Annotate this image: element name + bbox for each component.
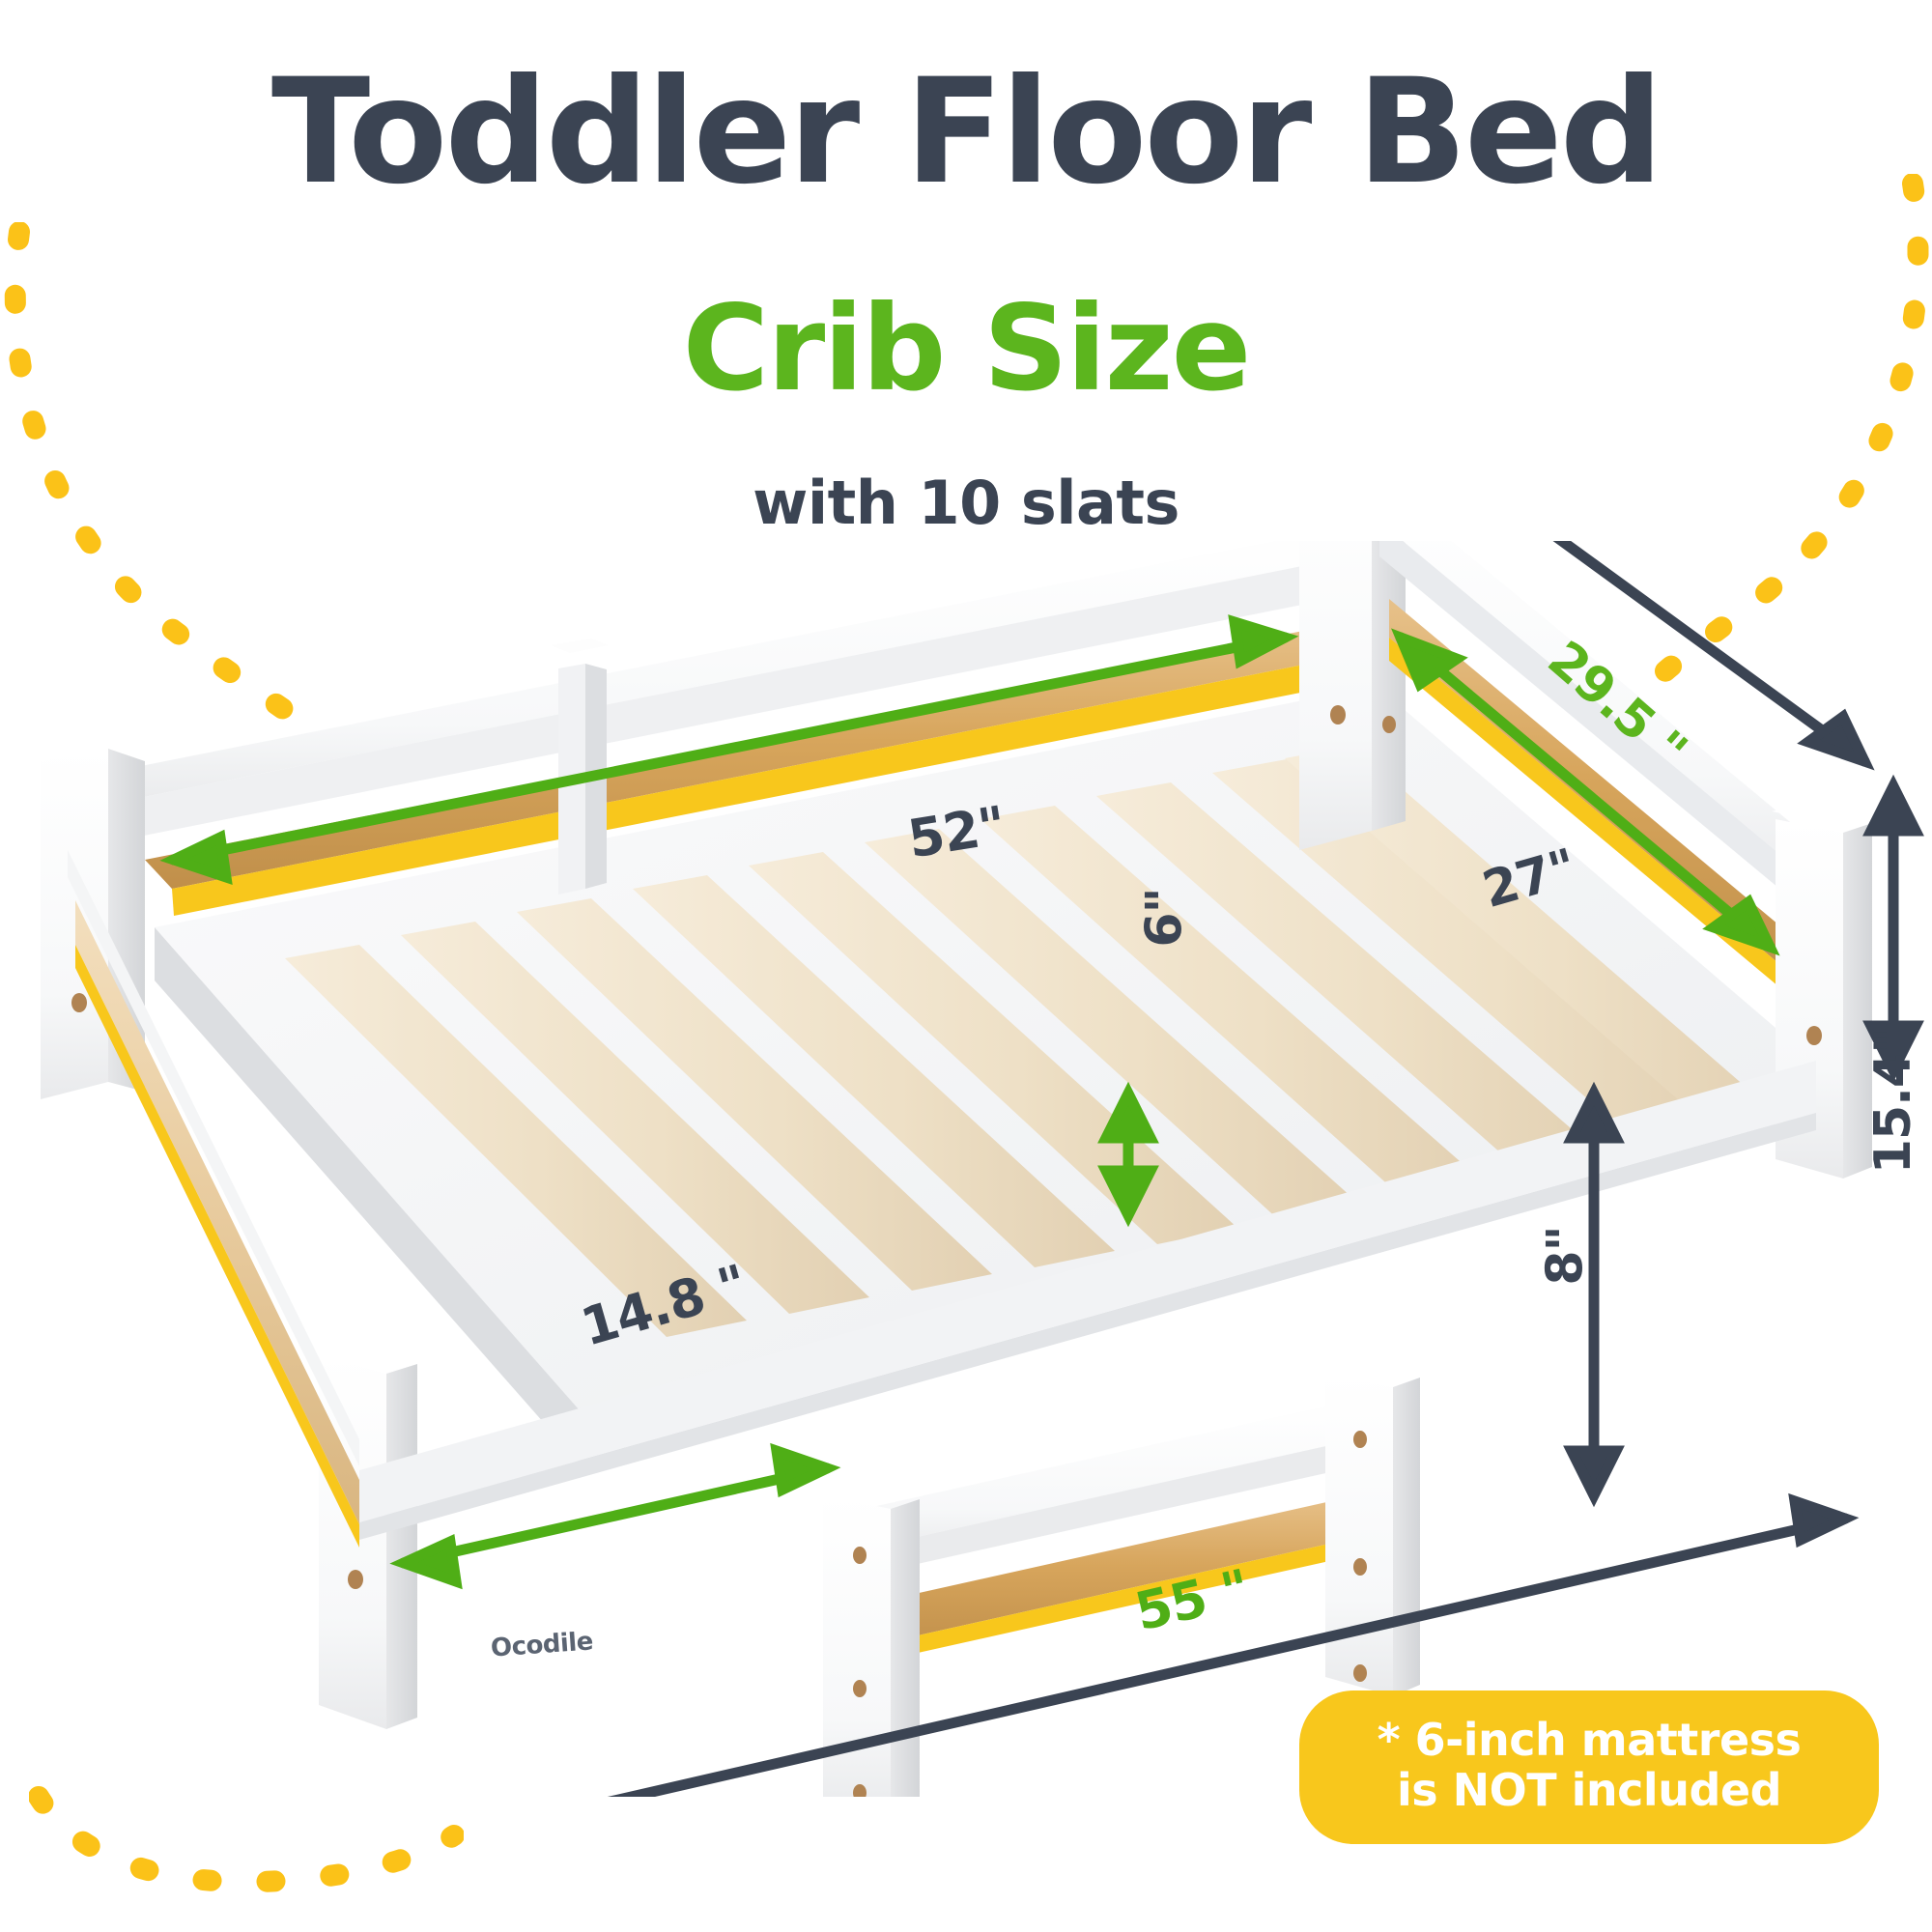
page-title: Toddler Floor Bed [0,60,1932,205]
guard-post-back-middle [551,639,609,895]
page-tagline: with 10 slats [0,473,1932,533]
page-subtitle: Crib Size [0,290,1932,408]
corner-post-back-right [1294,541,1410,850]
dimension-label-height-rail: 8" [1537,1226,1595,1285]
guard-post-front-right [1321,1355,1424,1696]
mattress-disclaimer-badge: * 6-inch mattress is NOT included [1299,1690,1879,1844]
asterisk-icon: * [1378,1714,1401,1766]
disclaimer-line-1: 6-inch mattress [1415,1714,1802,1766]
infographic-canvas: Toddler Floor Bed Crib Size with 10 slat… [0,0,1932,1932]
dimension-label-rail-gap: 6" [1136,888,1194,947]
dimension-label-height-total: 15.4" [1864,1029,1922,1174]
disclaimer-line-2: is NOT included [1397,1764,1781,1816]
